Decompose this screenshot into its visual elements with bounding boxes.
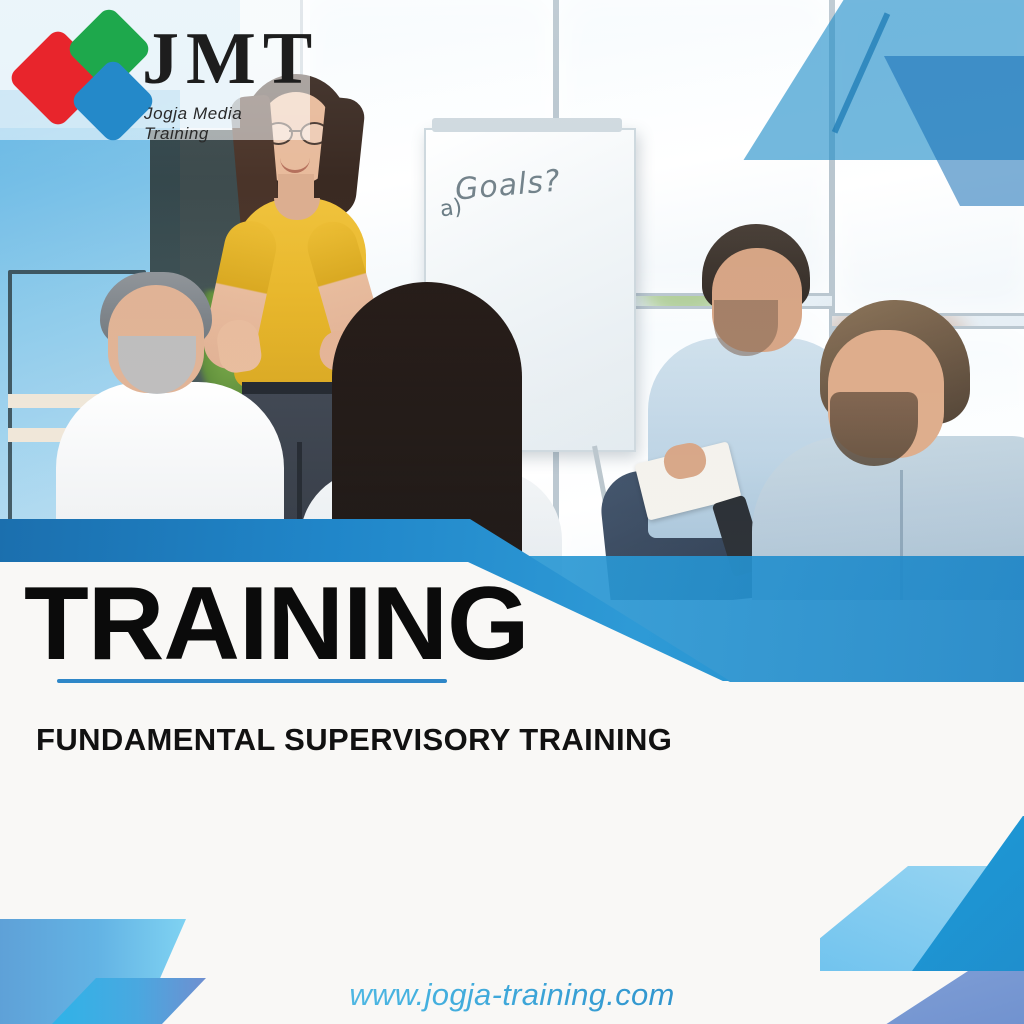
page-subtitle: FUNDAMENTAL SUPERVISORY TRAINING [36,722,672,758]
logo-wordmark: JMT [142,22,319,96]
logo-tagline: Jogja Media Training [144,104,308,144]
website-url[interactable]: www.jogja-training.com [0,977,1024,1013]
title-underline-rule [57,679,447,683]
page-title: TRAINING [24,572,529,676]
training-flyer: a) Goals? [0,0,1024,1024]
flipchart-clip [432,118,622,132]
brand-logo[interactable]: JMT Jogja Media Training [8,6,308,136]
